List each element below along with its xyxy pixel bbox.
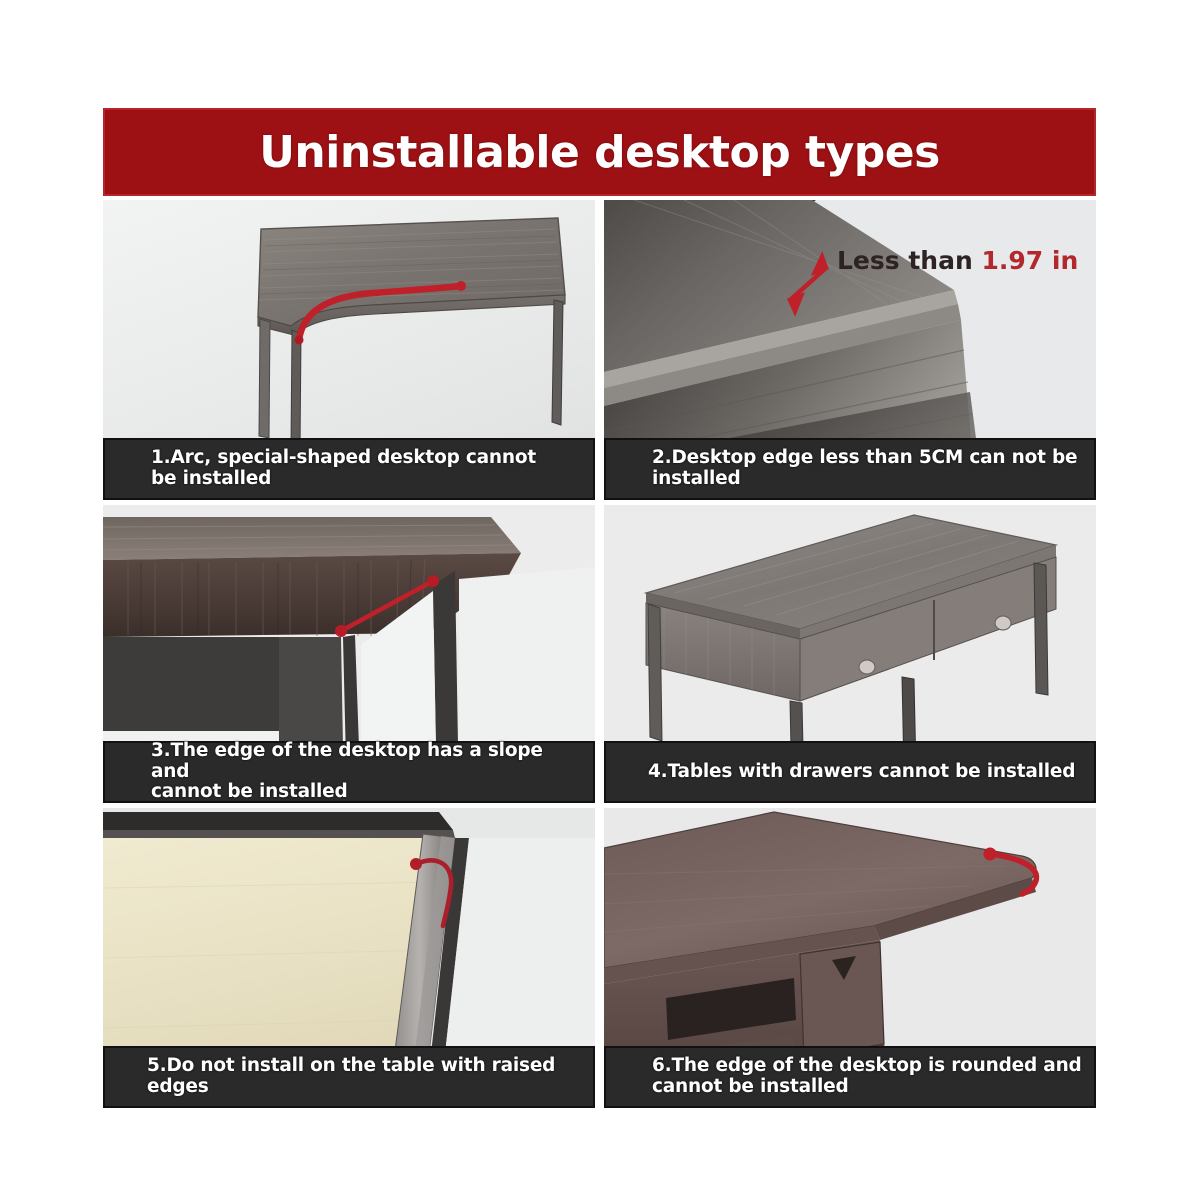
panel-5: 5.Do not install on the table with raise… <box>103 808 595 1108</box>
panel-4-caption: 4.Tables with drawers cannot be installe… <box>604 741 1096 803</box>
panel-5-caption: 5.Do not install on the table with raise… <box>103 1046 595 1108</box>
panel-3: 3.The edge of the desktop has a slope an… <box>103 505 595 803</box>
panel-1-caption: 1.Arc, special-shaped desktop cannot be … <box>103 438 595 500</box>
panel-3-caption: 3.The edge of the desktop has a slope an… <box>103 741 595 803</box>
desk-leg-right <box>552 300 563 425</box>
panel-2-caption-line1: 2.Desktop edge less than 5CM can not be <box>652 447 1077 468</box>
panel-1: 1.Arc, special-shaped desktop cannot be … <box>103 200 595 500</box>
panel-4: 4.Tables with drawers cannot be installe… <box>604 505 1096 803</box>
red-hook-dot <box>410 858 422 870</box>
panel-row-1: 1.Arc, special-shaped desktop cannot be … <box>103 200 1096 500</box>
title-banner: Uninstallable desktop types <box>103 108 1096 196</box>
panel-row-3: 5.Do not install on the table with raise… <box>103 808 1096 1108</box>
panel-2-caption: 2.Desktop edge less than 5CM can not be … <box>604 438 1096 500</box>
drawer-knob-right <box>995 616 1011 630</box>
panel-4-caption-line1: 4.Tables with drawers cannot be installe… <box>648 761 1075 782</box>
panel-3-caption-line1: 3.The edge of the desktop has a slope an… <box>151 740 543 782</box>
annotation-prefix: Less than <box>837 246 973 275</box>
panel-row-2: 3.The edge of the desktop has a slope an… <box>103 505 1096 803</box>
panel-5-caption-line1: 5.Do not install on the table with raise… <box>147 1055 555 1097</box>
panel-grid: 1.Arc, special-shaped desktop cannot be … <box>103 200 1096 1108</box>
panel-2: Less than 1.97 in 2.Desktop edge less th… <box>604 200 1096 500</box>
panel-1-caption-line2: be installed <box>151 468 271 489</box>
panel-6-caption-line2: cannot be installed <box>652 1076 849 1097</box>
panel-1-caption-line1: 1.Arc, special-shaped desktop cannot <box>151 447 536 468</box>
panel-6-caption-line1: 6.The edge of the desktop is rounded and <box>652 1055 1082 1076</box>
page-title: Uninstallable desktop types <box>259 127 940 178</box>
panel-6-caption: 6.The edge of the desktop is rounded and… <box>604 1046 1096 1108</box>
desk-leg-left <box>259 319 301 450</box>
panel-3-caption-line2: cannot be installed <box>151 781 348 802</box>
annotation-unit: in <box>1052 246 1078 275</box>
drawer-knob-left <box>859 660 875 674</box>
annotation-value: 1.97 <box>982 246 1044 275</box>
red-marker-dot <box>984 848 997 861</box>
panel-6: 6.The edge of the desktop is rounded and… <box>604 808 1096 1108</box>
panel-2-caption-line2: installed <box>652 468 741 489</box>
infographic-sheet: Uninstallable desktop types <box>0 0 1200 1200</box>
thickness-annotation: Less than 1.97 in <box>837 246 1078 275</box>
